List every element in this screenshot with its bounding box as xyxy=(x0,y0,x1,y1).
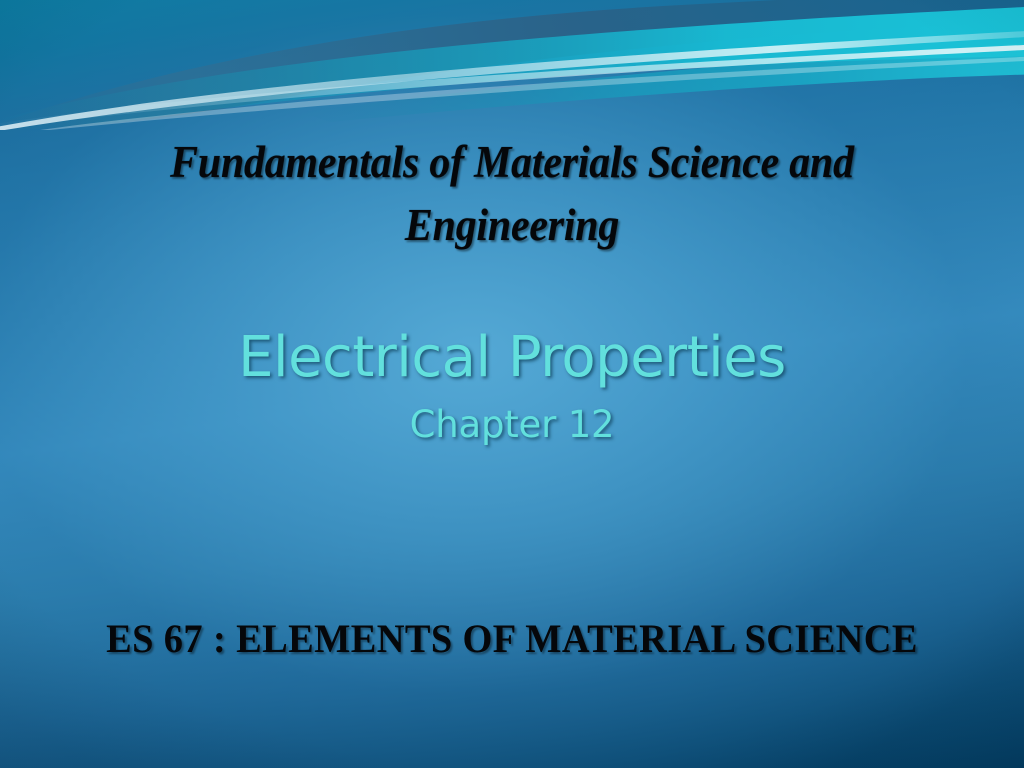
title-slide: Fundamentals of Materials Science and En… xyxy=(0,0,1024,768)
slide-subtitle: Electrical Properties xyxy=(0,327,1024,389)
slide-title: Fundamentals of Materials Science and En… xyxy=(36,131,988,257)
slide-course-footer: ES 67 : ELEMENTS OF MATERIAL SCIENCE xyxy=(20,613,1003,665)
slide-chapter-label: Chapter 12 xyxy=(0,403,1024,447)
slide-text-layer: Fundamentals of Materials Science and En… xyxy=(0,0,1024,768)
